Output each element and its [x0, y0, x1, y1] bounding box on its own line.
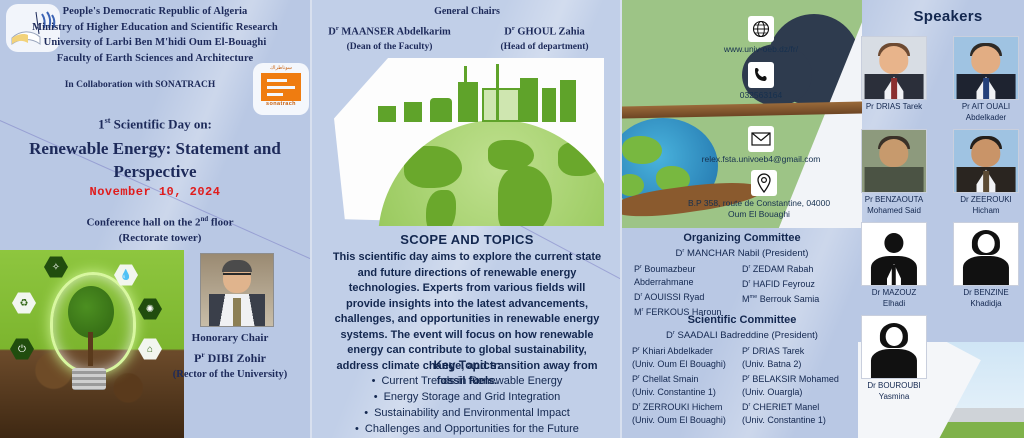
institution-line-2: Ministry of Higher Education and Scienti… — [0, 20, 310, 36]
lightbulb-base — [72, 368, 106, 390]
general-chairs-row: Dr MAANSER Abdelkarim (Dean of the Facul… — [312, 21, 622, 54]
key-topics-title: Key Topics: — [312, 358, 622, 372]
contact-address[interactable]: B.P 358, route de Constantine, 04000 Oum… — [684, 170, 844, 220]
honorary-chair-photo — [200, 253, 274, 327]
scientific-committee-president: Dr SAADALI Badreddine (President) — [626, 326, 858, 343]
tree-crown — [68, 286, 114, 338]
tree-icon — [68, 286, 114, 366]
building-icon — [482, 88, 520, 122]
email-address: relex.fsta.univoeb4@gmail.com — [676, 154, 846, 165]
general-chair-2-name: Dr GHOUL Zahia — [470, 21, 620, 40]
website-url: www.univ-oeb.dz/fr/ — [676, 44, 846, 55]
committee-member-affiliation: (Univ. Batna 2) — [742, 358, 852, 371]
key-topic-item: Current Trends in Renewable Energy — [328, 373, 606, 389]
speaker-card[interactable]: Dr BENZINE Khadidja — [952, 222, 1020, 309]
honorary-chair-name: Pr DIBI Zohir — [150, 346, 310, 367]
committee-member: Pr Khiari Abdelkader — [632, 343, 742, 358]
continent — [426, 190, 456, 226]
solar-panel-icon — [378, 106, 396, 122]
speaker-name: Dr BENZINE Khadidja — [952, 288, 1020, 309]
wind-turbine-icon — [496, 64, 499, 122]
sonatrach-name-label: sonatrach — [253, 101, 309, 107]
speaker-avatar — [861, 222, 927, 286]
committee-member: Dr AOUISSI Ryad — [634, 289, 742, 304]
general-chairs-block: General Chairs Dr MAANSER Abdelkarim (De… — [312, 6, 622, 54]
male-silhouette-icon — [862, 223, 926, 285]
key-topic-item: Sustainability and Environmental Impact — [328, 405, 606, 421]
committee-member: Pr Chellat Smain — [632, 371, 742, 386]
venue-line-1: Conference hall on the 2nd floor — [20, 212, 300, 231]
institution-header: People's Democratic Republic of Algeria … — [0, 4, 310, 66]
postal-address: B.P 358, route de Constantine, 04000 Oum… — [684, 198, 834, 220]
leaf-icon: ✧ — [44, 256, 68, 278]
continent — [558, 142, 602, 176]
honorary-chair-title: (Rector of the University) — [150, 367, 310, 382]
left-panel: People's Democratic Republic of Algeria … — [0, 0, 310, 438]
key-topic-item: Challenges and Opportunities for the Fut… — [328, 421, 606, 437]
green-city-skyline — [378, 64, 578, 122]
speaker-photo — [861, 36, 927, 100]
organizing-left-column: Pr Boumazbeur Abderrahmane Dr AOUISSI Ry… — [634, 261, 742, 319]
general-chair-2-role: (Head of department) — [470, 40, 620, 54]
committee-member: Dr CHERIET Manel — [742, 399, 852, 414]
photo-tie — [233, 298, 241, 327]
committee-member: Dr ZEDAM Rabah — [742, 261, 850, 276]
venue-line-2: (Rectorate tower) — [20, 231, 300, 246]
continent — [498, 166, 552, 226]
solar-panel-icon — [404, 102, 422, 122]
phone-icon — [748, 62, 774, 88]
green-city-globe-image — [334, 58, 604, 226]
general-chair-1-role: (Dean of the Faculty) — [315, 40, 465, 54]
general-chair-2: Dr GHOUL Zahia (Head of department) — [470, 21, 620, 54]
sonatrach-mark-icon — [261, 73, 301, 101]
sonatrach-logo: سوناطراك sonatrach — [253, 63, 309, 115]
collaboration-text: In Collaboration with SONATRACH — [20, 80, 260, 90]
speaker-name: Dr MAZOUZ Elhadi — [860, 288, 928, 309]
scientific-right-column: Pr DRIAS Tarek (Univ. Batna 2) Pr BELAKS… — [742, 343, 852, 427]
portrait — [954, 37, 1018, 99]
speakers-title: Speakers — [870, 8, 1024, 25]
event-venue: Conference hall on the 2nd floor (Rector… — [20, 212, 300, 246]
scientific-committee-title: Scientific Committee — [626, 314, 858, 326]
scientific-committee-members: Pr Khiari Abdelkader (Univ. Oum El Bouag… — [626, 343, 858, 427]
institution-line-3: University of Larbi Ben M'hidi Oum El-Bo… — [0, 35, 310, 51]
speaker-card[interactable]: Dr MAZOUZ Elhadi — [860, 222, 928, 309]
speaker-name: Pr DRIAS Tarek — [860, 102, 928, 113]
speaker-name: Pr AIT OUALI Abdelkader — [952, 102, 1020, 123]
conference-poster: People's Democratic Republic of Algeria … — [0, 0, 1024, 438]
speaker-card[interactable]: Dr BOUROUBI Yasmina — [860, 315, 928, 402]
scientific-committee: Scientific Committee Dr SAADALI Badreddi… — [626, 314, 858, 427]
building-icon — [560, 80, 576, 122]
house-icon — [430, 98, 452, 122]
event-date: November 10, 2024 — [0, 185, 310, 199]
committee-member: Pr Boumazbeur Abderrahmane — [634, 261, 742, 289]
speaker-card[interactable]: Dr ZEEROUKI Hicham — [952, 129, 1020, 216]
organizing-committee-members: Pr Boumazbeur Abderrahmane Dr AOUISSI Ry… — [628, 261, 856, 319]
event-kicker: 1st Scientific Day on: — [0, 116, 310, 132]
committee-member: Pr BELAKSIR Mohamed — [742, 371, 852, 386]
institution-line-1: People's Democratic Republic of Algeria — [0, 4, 310, 20]
honorary-chair-role: Honorary Chair — [150, 330, 310, 346]
globe-icon — [748, 16, 774, 42]
general-chair-1: Dr MAANSER Abdelkarim (Dean of the Facul… — [315, 21, 465, 54]
photo-glasses — [223, 273, 251, 281]
speaker-card[interactable]: Pr BENZAOUTA Mohamed Said — [860, 129, 928, 216]
wind-icon: ✺ — [138, 298, 162, 320]
wind-turbine-icon — [464, 66, 467, 122]
female-silhouette-icon — [862, 316, 926, 378]
scientific-left-column: Pr Khiari Abdelkader (Univ. Oum El Bouag… — [632, 343, 742, 427]
contact-website[interactable]: www.univ-oeb.dz/fr/ — [676, 16, 846, 55]
speaker-photo — [953, 129, 1019, 193]
location-pin-icon — [751, 170, 777, 196]
speaker-name: Dr BOUROUBI Yasmina — [860, 381, 928, 402]
organizing-committee: Organizing Committee Dr MANCHAR Nabil (P… — [628, 232, 856, 319]
honorary-chair-caption: Honorary Chair Pr DIBI Zohir (Rector of … — [150, 330, 310, 382]
contact-phone[interactable]: 032563164 — [676, 62, 846, 101]
committee-member-affiliation: (Univ. Ouargla) — [742, 386, 852, 399]
speaker-card[interactable]: Pr AIT OUALI Abdelkader — [952, 36, 1020, 123]
committee-member-affiliation: (Univ. Oum El Bouaghi) — [632, 358, 742, 371]
event-title: Renewable Energy: Statement and Perspect… — [8, 137, 302, 183]
right-panel: www.univ-oeb.dz/fr/ 032563164 relex.fsta… — [620, 0, 1024, 438]
speaker-name: Dr ZEEROUKI Hicham — [952, 195, 1020, 216]
committee-member: Dr ZERROUKI Hichem — [632, 399, 742, 414]
organizing-committee-title: Organizing Committee — [628, 232, 856, 244]
female-silhouette-icon — [954, 223, 1018, 285]
portrait — [862, 37, 926, 99]
continent — [404, 146, 462, 188]
general-chairs-title: General Chairs — [312, 6, 622, 17]
building-icon — [458, 82, 478, 122]
speaker-card[interactable]: Pr DRIAS Tarek — [860, 36, 928, 113]
committee-member: Mme Berrouk Samia — [742, 291, 850, 306]
contact-email[interactable]: relex.fsta.univoeb4@gmail.com — [676, 126, 846, 165]
key-topics-list: Current Trends in Renewable Energy Energ… — [328, 373, 606, 437]
organizing-right-column: Dr ZEDAM Rabah Dr HAFID Feyrouz Mme Berr… — [742, 261, 850, 319]
landmass — [622, 136, 662, 164]
sonatrach-arabic-label: سوناطراك — [253, 63, 309, 72]
scope-title: SCOPE AND TOPICS — [312, 232, 622, 247]
speaker-photo — [861, 129, 927, 193]
portrait — [862, 130, 926, 192]
committee-member-affiliation: (Univ. Oum El Bouaghi) — [632, 414, 742, 427]
phone-number: 032563164 — [676, 90, 846, 101]
speaker-name: Pr BENZAOUTA Mohamed Said — [860, 195, 928, 216]
general-chair-1-name: Dr MAANSER Abdelkarim — [315, 21, 465, 40]
speaker-photo — [953, 36, 1019, 100]
photo-hair — [222, 260, 252, 272]
building-icon — [520, 78, 538, 122]
committee-member-affiliation: (Univ. Constantine 1) — [742, 414, 852, 427]
recycle-icon: ♻ — [12, 292, 36, 314]
speaker-avatar — [861, 315, 927, 379]
committee-member-affiliation: (Univ. Constantine 1) — [632, 386, 742, 399]
tree-trunk — [88, 332, 93, 366]
middle-panel: General Chairs Dr MAANSER Abdelkarim (De… — [310, 0, 622, 438]
portrait — [954, 130, 1018, 192]
email-icon — [748, 126, 774, 152]
organizing-committee-president: Dr MANCHAR Nabil (President) — [628, 244, 856, 261]
committee-member: Dr HAFID Feyrouz — [742, 276, 850, 291]
building-icon — [542, 88, 556, 122]
speaker-avatar — [953, 222, 1019, 286]
key-topic-item: Energy Storage and Grid Integration — [328, 389, 606, 405]
committee-member: Pr DRIAS Tarek — [742, 343, 852, 358]
